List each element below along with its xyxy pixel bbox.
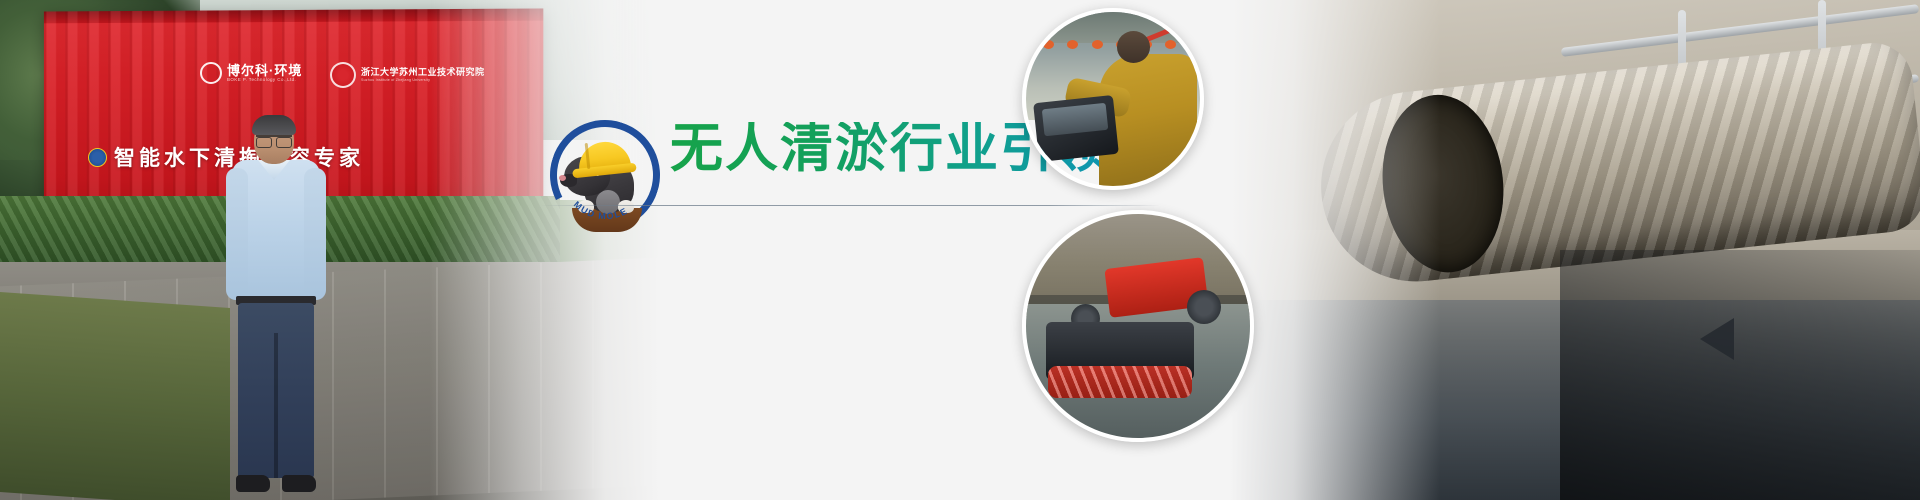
shadow-overlay [1560, 250, 1920, 500]
robot-wheel-right [1187, 290, 1221, 324]
divider [540, 205, 1160, 206]
grass-patch [0, 292, 230, 500]
container-brand-logo: 博尔科·环境 BOKE P. Technology Co.,Ltd. [200, 62, 302, 84]
person-glasses-icon [256, 135, 292, 144]
mud-mole-logo: MUD MOLE [550, 120, 660, 230]
svg-text:MUD MOLE: MUD MOLE [572, 199, 630, 221]
person-standing [228, 118, 324, 500]
control-screen [1042, 103, 1109, 137]
control-case [1034, 95, 1120, 162]
container-brand-cn: 博尔科·环境 [227, 64, 302, 78]
float-marker [1043, 40, 1054, 49]
hero-banner: 博尔科·环境 BOKE P. Technology Co.,Ltd. 浙江大学苏… [0, 0, 1920, 500]
brand-mark-icon [200, 62, 222, 84]
logo-arc-text: MUD MOLE [550, 120, 660, 230]
right-photo-fade-mask [1230, 0, 1440, 500]
float-marker [1165, 40, 1176, 49]
person-arm-right [304, 168, 326, 300]
person-arm-left [226, 168, 248, 300]
floating-markers [1036, 40, 1189, 54]
circular-photo-robot [1022, 210, 1254, 442]
arrow-icon [1700, 318, 1734, 360]
container-brand-en: BOKE P. Technology Co.,Ltd. [227, 77, 302, 82]
left-photo-fade-mask [430, 0, 660, 500]
slogan-badge-icon [88, 148, 107, 167]
robot-auger [1048, 366, 1191, 397]
person-hair [252, 115, 296, 135]
float-marker [1092, 40, 1103, 49]
right-photo-pipe [1230, 0, 1920, 500]
institute-seal-icon [330, 62, 356, 88]
left-photo-container-and-person: 博尔科·环境 BOKE P. Technology Co.,Ltd. 浙江大学苏… [0, 0, 660, 500]
circular-photo-operator [1022, 8, 1204, 190]
person-trousers [238, 303, 314, 478]
person-shoes [236, 475, 316, 495]
float-marker [1067, 40, 1078, 49]
